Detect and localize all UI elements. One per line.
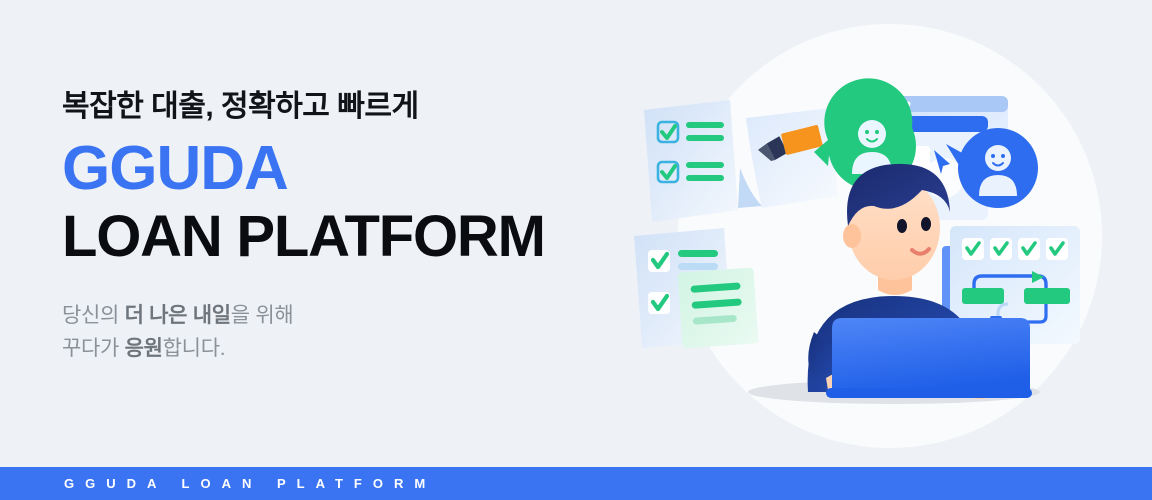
tagline-2-post: 합니다. [163,337,226,360]
bottom-ticker-bar: GGUDA LOAN PLATFORM [0,467,1152,500]
tagline-line-1: 당신의 더 나은 내일을 위해 [62,299,622,333]
tagline-2-strong: 응원 [125,337,163,360]
tagline-1-strong: 더 나은 내일 [125,304,231,327]
tagline-2-pre: 꾸다가 [62,337,125,360]
tagline-line-2: 꾸다가 응원합니다. [62,332,622,366]
brand-name: GGUDA [62,134,622,203]
tagline-1-pre: 당신의 [62,304,125,327]
laptop [832,318,1030,394]
tagline-1-post: 을 위해 [231,304,294,327]
ticker-text: GGUDA LOAN PLATFORM [0,476,436,491]
mint-note-card [677,267,758,348]
eyebrow-text: 복잡한 대출, 정확하고 빠르게 [62,88,622,126]
hero-copy: 복잡한 대출, 정확하고 빠르게 GGUDA LOAN PLATFORM 당신의… [62,88,622,366]
hero-banner: 복잡한 대출, 정확하고 빠르게 GGUDA LOAN PLATFORM 당신의… [0,0,1152,500]
tagline: 당신의 더 나은 내일을 위해 꾸다가 응원합니다. [62,299,622,366]
checklist-document-top-left [644,100,738,222]
hero-illustration [612,0,1152,466]
product-name: LOAN PLATFORM [62,205,622,269]
